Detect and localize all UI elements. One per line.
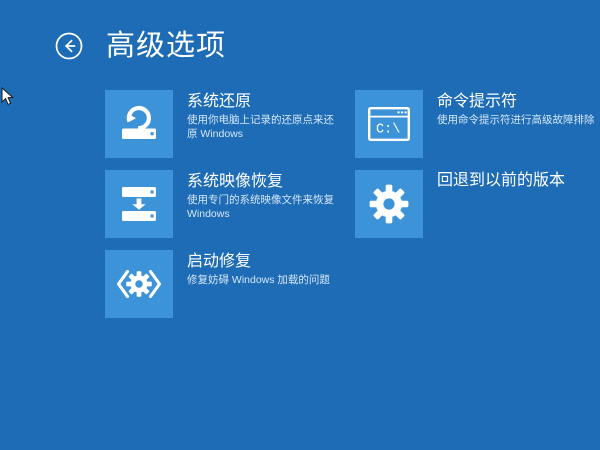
option-title: 系统还原 <box>187 92 335 112</box>
gear-icon <box>355 170 423 238</box>
option-description: 使用命令提示符进行高级故障排除 <box>437 113 585 127</box>
option-description: 使用专门的系统映像文件来恢复 Windows <box>187 193 335 221</box>
mouse-pointer-icon <box>1 87 15 107</box>
option-command-prompt[interactable]: C:\ 命令提示符 使用命令提示符进行高级故障排除 <box>355 90 585 158</box>
option-go-back-to-previous-build[interactable]: 回退到以前的版本 <box>355 170 585 238</box>
winre-advanced-options-screen: 高级选项 系统还原 使用你电脑上记 <box>0 0 600 450</box>
option-system-image-recovery[interactable]: 系统映像恢复 使用专门的系统映像文件来恢复 Windows <box>105 170 335 238</box>
command-prompt-icon: C:\ <box>355 90 423 158</box>
option-system-restore[interactable]: 系统还原 使用你电脑上记录的还原点来还原 Windows <box>105 90 335 158</box>
startup-repair-icon <box>105 250 173 318</box>
system-image-recovery-icon <box>105 170 173 238</box>
option-title: 系统映像恢复 <box>187 172 335 192</box>
option-title: 命令提示符 <box>437 92 585 112</box>
option-text: 系统还原 使用你电脑上记录的还原点来还原 Windows <box>173 90 335 141</box>
svg-text:C:\: C:\ <box>376 123 400 138</box>
page-title: 高级选项 <box>106 29 226 63</box>
option-text: 启动修复 修复妨碍 Windows 加载的问题 <box>173 250 330 287</box>
option-title: 回退到以前的版本 <box>437 171 565 191</box>
back-arrow-circle-icon[interactable] <box>54 31 84 61</box>
option-text: 回退到以前的版本 <box>423 170 565 191</box>
option-title: 启动修复 <box>187 252 330 272</box>
options-left-column: 系统还原 使用你电脑上记录的还原点来还原 Windows <box>105 90 335 330</box>
option-text: 系统映像恢复 使用专门的系统映像文件来恢复 Windows <box>173 170 335 221</box>
page-header: 高级选项 <box>54 24 226 68</box>
options-right-column: C:\ 命令提示符 使用命令提示符进行高级故障排除 <box>355 90 585 250</box>
option-description: 修复妨碍 Windows 加载的问题 <box>187 273 330 287</box>
option-startup-repair[interactable]: 启动修复 修复妨碍 Windows 加载的问题 <box>105 250 335 318</box>
option-description: 使用你电脑上记录的还原点来还原 Windows <box>187 113 335 141</box>
option-text: 命令提示符 使用命令提示符进行高级故障排除 <box>423 90 585 127</box>
system-restore-icon <box>105 90 173 158</box>
